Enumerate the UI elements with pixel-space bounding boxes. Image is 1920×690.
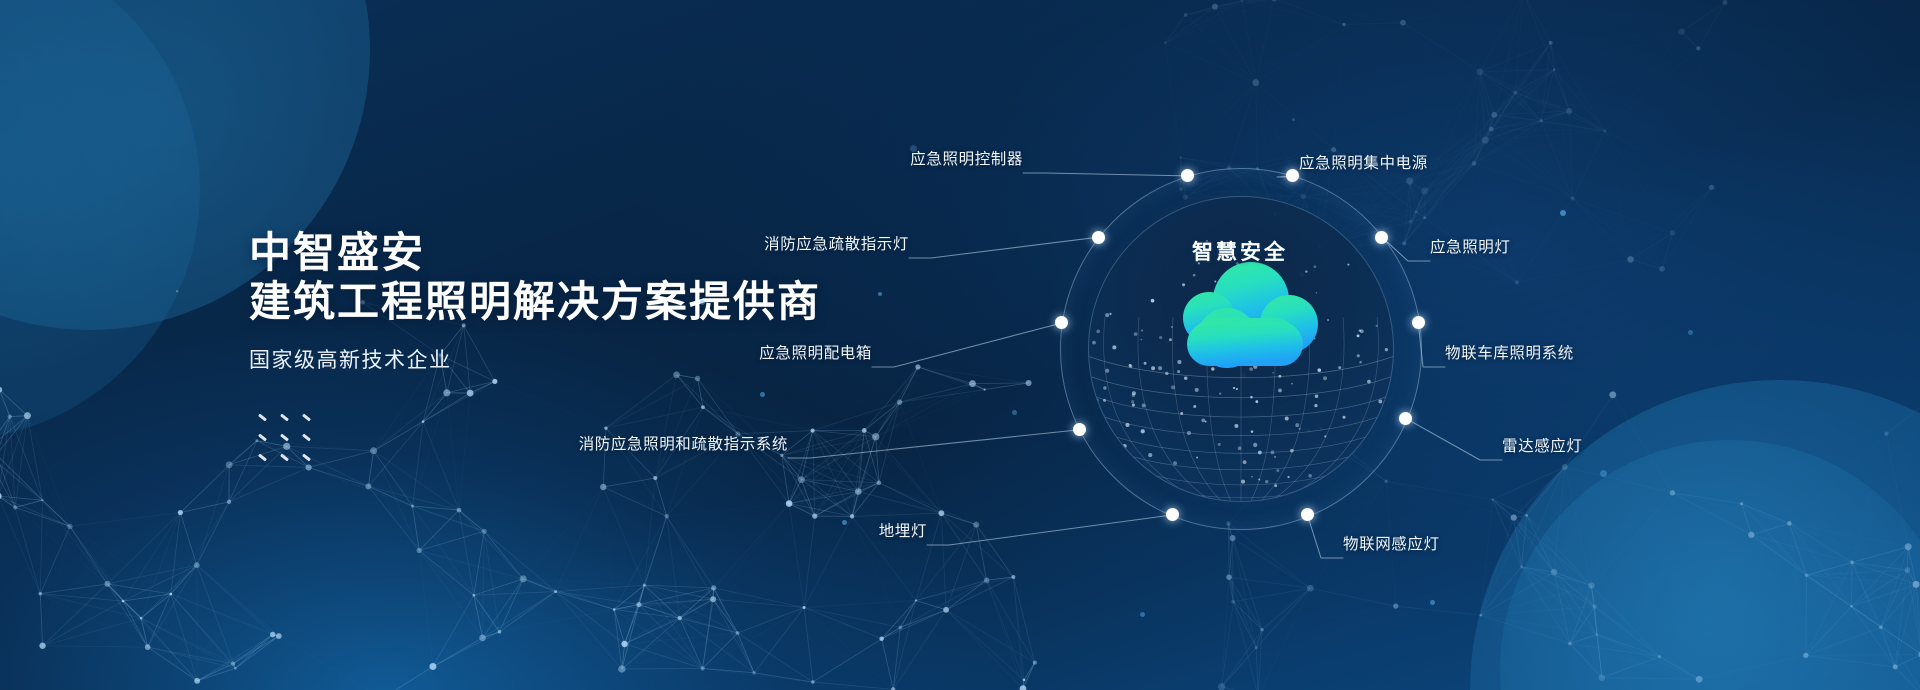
cloud-icon: [1165, 260, 1320, 375]
diagram-label-fire-emergency-evacuation-system[interactable]: 消防应急照明和疏散指示系统: [538, 435, 788, 455]
decor-dash: [258, 454, 267, 462]
decor-dash: [258, 434, 267, 442]
diagram-node-fire-evacuation-indicator-lamp[interactable]: [1092, 231, 1105, 244]
diagram-node-iot-garage-lighting-system[interactable]: [1412, 316, 1425, 329]
hero-banner: 中智盛安 建筑工程照明解决方案提供商 国家级高新技术企业: [0, 0, 1920, 690]
decor-sparkle: [910, 145, 917, 152]
diagram-label-radar-sensor-lamp[interactable]: 雷达感应灯: [1502, 437, 1583, 457]
decor-sparkle: [1430, 600, 1435, 605]
decor-dash: [280, 454, 289, 462]
decor-circle-bottom-right-a: [1470, 380, 1920, 690]
page-title-line-2: 建筑工程照明解决方案提供商: [249, 277, 821, 326]
decor-sparkle: [1600, 470, 1607, 477]
central-diagram: 智慧安全: [1060, 168, 1420, 528]
diagram-label-emergency-distribution-box[interactable]: 应急照明配电箱: [734, 344, 872, 364]
decor-sparkle: [878, 292, 882, 296]
decor-sparkle: [760, 392, 765, 397]
decor-sparkle: [1292, 118, 1295, 121]
decor-sparkle: [1140, 612, 1145, 617]
decor-dash: [258, 414, 267, 422]
decor-dash: [302, 434, 311, 442]
decor-sparkle: [1688, 330, 1693, 335]
decor-sparkle: [1012, 410, 1017, 415]
decor-dash: [302, 454, 311, 462]
diagram-label-emergency-lighting-controller[interactable]: 应急照明控制器: [883, 150, 1023, 170]
diagram-node-emergency-lighting-lamp[interactable]: [1375, 231, 1388, 244]
decor-dash: [280, 434, 289, 442]
decor-circle-top-left-b: [0, 0, 200, 440]
diagram-label-inground-lamp[interactable]: 地埋灯: [865, 522, 927, 542]
decor-sparkle: [842, 520, 847, 525]
decor-dash: [302, 414, 311, 422]
diagram-label-iot-sensor-lamp[interactable]: 物联网感应灯: [1343, 535, 1440, 555]
decor-dot-grid: [258, 416, 324, 476]
diagram-label-iot-garage-lighting-system[interactable]: 物联车库照明系统: [1445, 344, 1574, 364]
diagram-label-emergency-lighting-lamp[interactable]: 应急照明灯: [1430, 238, 1511, 258]
diagram-node-radar-sensor-lamp[interactable]: [1399, 412, 1412, 425]
decor-sparkle: [700, 300, 705, 305]
diagram-label-fire-evacuation-indicator-lamp[interactable]: 消防应急疏散指示灯: [731, 235, 909, 255]
diagram-label-emergency-lighting-power-supply[interactable]: 应急照明集中电源: [1299, 154, 1428, 174]
cloud-label: 智慧安全: [1060, 236, 1420, 266]
decor-circle-bottom-right-b: [1500, 440, 1920, 690]
decor-dash: [280, 414, 289, 422]
decor-sparkle: [1560, 210, 1566, 216]
